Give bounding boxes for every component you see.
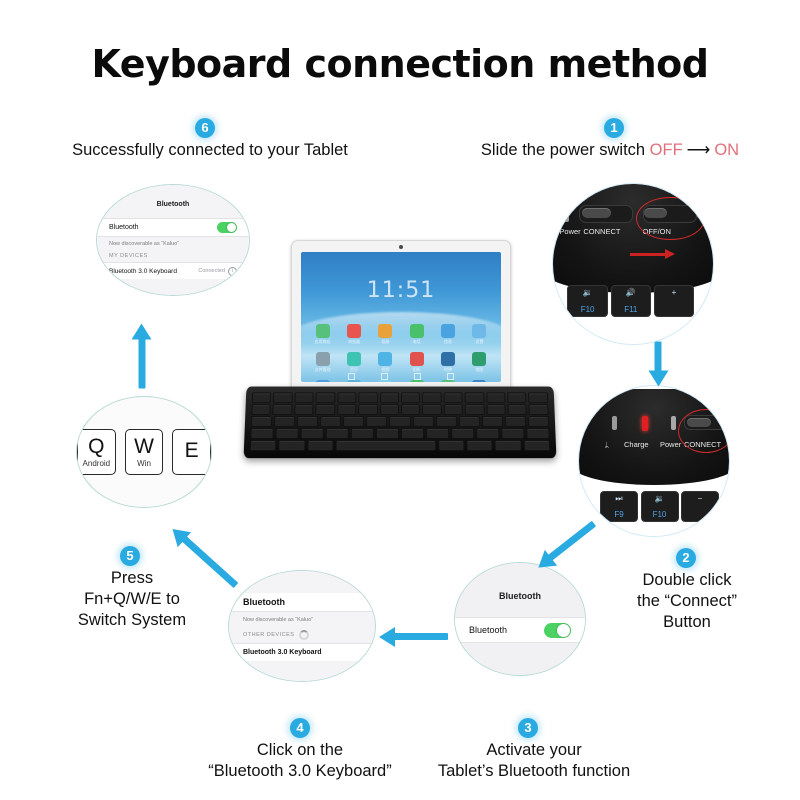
- step-caption-1: Slide the power switch OFF⟶ON: [440, 140, 780, 161]
- app-item[interactable]: 时钟: [434, 352, 461, 373]
- android-nav-bar[interactable]: [301, 373, 501, 380]
- app-item[interactable]: 相册: [372, 324, 399, 345]
- keycap-q[interactable]: Q Android: [77, 429, 116, 475]
- front-camera-icon: [399, 245, 403, 249]
- device-name: Bluetooth 3.0 Keyboard: [109, 268, 177, 275]
- app-item[interactable]: [466, 380, 493, 382]
- back-icon[interactable]: [348, 373, 355, 380]
- bluetooth-panel-4: Bluetooth Now discoverable as “Kaluo” OT…: [229, 571, 375, 681]
- caption-1-arrow: ⟶: [683, 141, 715, 159]
- keycap-group: Q Android W Win E: [77, 397, 211, 507]
- app-item[interactable]: 联系人: [403, 380, 430, 382]
- keyboard-photo-connect: ᛦ Charge Power CONNECT ⏭ F9 🔉 F10 −: [579, 386, 729, 536]
- bluetooth-row-label: Bluetooth: [109, 224, 139, 231]
- infographic-canvas: Keyboard connection method 6 Successfull…: [0, 0, 800, 800]
- section-header: MY DEVICES: [97, 247, 249, 262]
- key-f11-label: F11: [612, 305, 650, 314]
- app-label: 浏览器: [340, 339, 367, 345]
- step-caption-4: Click on the “Bluetooth 3.0 Keyboard”: [200, 740, 400, 782]
- bluetooth-toggle-row[interactable]: Bluetooth: [97, 218, 249, 237]
- app-item[interactable]: 文件管理: [309, 352, 336, 373]
- status-bar: [301, 252, 501, 260]
- bluetooth-panel-3: Bluetooth Bluetooth: [455, 563, 585, 675]
- led-power: [671, 416, 676, 430]
- keycap-w-sublabel: Win: [137, 459, 151, 468]
- bubble-step-3: Bluetooth Bluetooth: [454, 562, 586, 676]
- step-badge-6: 6: [195, 118, 215, 138]
- led-bluetooth: [612, 416, 617, 430]
- bubble-step-6: Bluetooth Bluetooth Now discoverable as …: [96, 184, 250, 296]
- app-item[interactable]: 微信: [434, 380, 461, 382]
- bubble-step-2: ᛦ Charge Power CONNECT ⏭ F9 🔉 F10 −: [578, 385, 730, 537]
- bubble-step-4: Bluetooth Now discoverable as “Kaluo” OT…: [228, 570, 376, 682]
- section-header: OTHER DEVICES: [243, 632, 294, 638]
- toggle-knob: [227, 223, 236, 232]
- key-plus[interactable]: +: [654, 285, 694, 317]
- home-icon[interactable]: [381, 373, 388, 380]
- app-item[interactable]: 地图: [466, 352, 493, 373]
- keycap-q-sublabel: Android: [83, 459, 111, 468]
- arrow-step3-to-step4: [392, 633, 448, 640]
- key-minus-glyph: −: [682, 494, 718, 519]
- app-label: 电话: [403, 339, 430, 345]
- arrow-step5-to-step6: [139, 337, 146, 389]
- highlight-ring-connect: [678, 409, 730, 453]
- key-f11[interactable]: 🔊 F11: [611, 285, 651, 317]
- key-minus[interactable]: −: [681, 491, 719, 522]
- panel-title: Bluetooth: [97, 185, 249, 208]
- app-item[interactable]: 邮件: [309, 380, 336, 382]
- step-caption-6: Successfully connected to your Tablet: [30, 140, 390, 161]
- label-charge: Charge: [624, 440, 649, 449]
- step-caption-5: Press Fn+Q/W/E to Switch System: [50, 568, 214, 631]
- step-caption-3: Activate your Tablet’s Bluetooth functio…: [428, 740, 640, 782]
- key-plus-glyph: +: [655, 288, 693, 314]
- device-row[interactable]: Bluetooth 3.0 Keyboard Connected i: [97, 262, 249, 279]
- keyboard-photo-power-switch: Power CONNECT OFF/ON 🔉 F10 🔊 F11 +: [553, 184, 713, 344]
- app-item[interactable]: 信息: [434, 324, 461, 345]
- bubble-step-1: Power CONNECT OFF/ON 🔉 F10 🔊 F11 +: [552, 183, 714, 345]
- keycap-e[interactable]: E: [172, 429, 211, 475]
- direction-arrow-icon: [630, 253, 666, 256]
- tablet: 11:51 应用商店 浏览器 相册 电话 信息 设置 文件管理 音乐 视频 相机…: [291, 240, 511, 394]
- bubble-step-5: Q Android W Win E: [76, 396, 212, 508]
- app-label: 相册: [372, 339, 399, 345]
- toggle-knob: [557, 624, 570, 637]
- keycap-e-letter: E: [185, 441, 199, 461]
- bluetooth-toggle-row[interactable]: Bluetooth: [455, 617, 585, 643]
- discoverable-text: Now discoverable as “Kaluo”: [229, 612, 375, 623]
- bluetooth-header-row: Bluetooth: [229, 593, 375, 612]
- led-indicator: [564, 210, 569, 222]
- app-label: 信息: [434, 339, 461, 345]
- bluetooth-keyboard[interactable]: [244, 387, 557, 459]
- key-f10-label: F10: [642, 510, 678, 519]
- lockscreen-clock: 11:51: [301, 278, 501, 303]
- bluetooth-panel-6: Bluetooth Bluetooth Now discoverable as …: [97, 185, 249, 295]
- key-f10[interactable]: 🔉 F10: [641, 491, 679, 522]
- keycap-w[interactable]: W Win: [125, 429, 164, 475]
- device-status: Connected: [198, 268, 225, 274]
- device-name: Bluetooth 3.0 Keyboard: [243, 649, 322, 656]
- step-badge-2: 2: [676, 548, 696, 568]
- key-f10-label: F10: [568, 305, 606, 314]
- app-item[interactable]: 电话: [403, 324, 430, 345]
- app-item[interactable]: 设置: [466, 324, 493, 345]
- step-caption-2: Double click the “Connect” Button: [604, 570, 770, 633]
- panel-title: Bluetooth: [455, 563, 585, 601]
- caption-1-prefix: Slide the power switch: [481, 141, 650, 159]
- app-item[interactable]: 音乐: [340, 352, 367, 373]
- caption-1-on: ON: [714, 141, 739, 159]
- app-label: 设置: [466, 339, 493, 345]
- app-item[interactable]: 应用商店: [309, 324, 336, 345]
- app-item[interactable]: 计算器: [372, 380, 399, 382]
- label-power: Power: [559, 227, 580, 236]
- key-f9[interactable]: ⏭ F9: [600, 491, 638, 522]
- discoverable-text: Now discoverable as “Kaluo”: [97, 237, 249, 247]
- label-connect: CONNECT: [583, 227, 620, 236]
- recents-icon[interactable]: [414, 373, 421, 380]
- step-badge-4: 4: [290, 718, 310, 738]
- led-charge: [642, 416, 648, 431]
- keycap-w-letter: W: [134, 437, 154, 457]
- step-badge-3: 3: [518, 718, 538, 738]
- page-title: Keyboard connection method: [0, 42, 800, 86]
- bluetooth-row-label: Bluetooth: [469, 625, 507, 635]
- app-item[interactable]: 浏览器: [340, 324, 367, 345]
- tablet-with-keyboard: 11:51 应用商店 浏览器 相册 电话 信息 设置 文件管理 音乐 视频 相机…: [245, 240, 555, 470]
- app-item[interactable]: 相机: [403, 352, 430, 373]
- bluetooth-toggle[interactable]: [217, 222, 237, 233]
- device-row[interactable]: Bluetooth 3.0 Keyboard: [229, 643, 375, 661]
- keycap-q-letter: Q: [88, 437, 104, 457]
- step-badge-5: 5: [120, 546, 140, 566]
- app-label: 应用商店: [309, 339, 336, 345]
- label-power: Power: [660, 440, 681, 449]
- bluetooth-toggle[interactable]: [544, 623, 571, 638]
- panel-title: Bluetooth: [243, 597, 285, 607]
- info-icon[interactable]: i: [228, 267, 237, 276]
- key-f10[interactable]: 🔉 F10: [567, 285, 607, 317]
- connect-button[interactable]: [582, 208, 611, 218]
- loading-spinner-icon: [299, 630, 309, 640]
- screenshot-icon[interactable]: [447, 373, 454, 380]
- arrow-step1-to-step2: [655, 342, 662, 374]
- key-f9-label: F9: [601, 510, 637, 519]
- app-item[interactable]: 视频: [372, 352, 399, 373]
- app-item[interactable]: 日历: [340, 380, 367, 382]
- caption-1-off: OFF: [650, 141, 683, 159]
- step-badge-1: 1: [604, 118, 624, 138]
- tablet-screen: 11:51 应用商店 浏览器 相册 电话 信息 设置 文件管理 音乐 视频 相机…: [301, 252, 501, 382]
- label-bluetooth-icon: ᛦ: [605, 440, 610, 449]
